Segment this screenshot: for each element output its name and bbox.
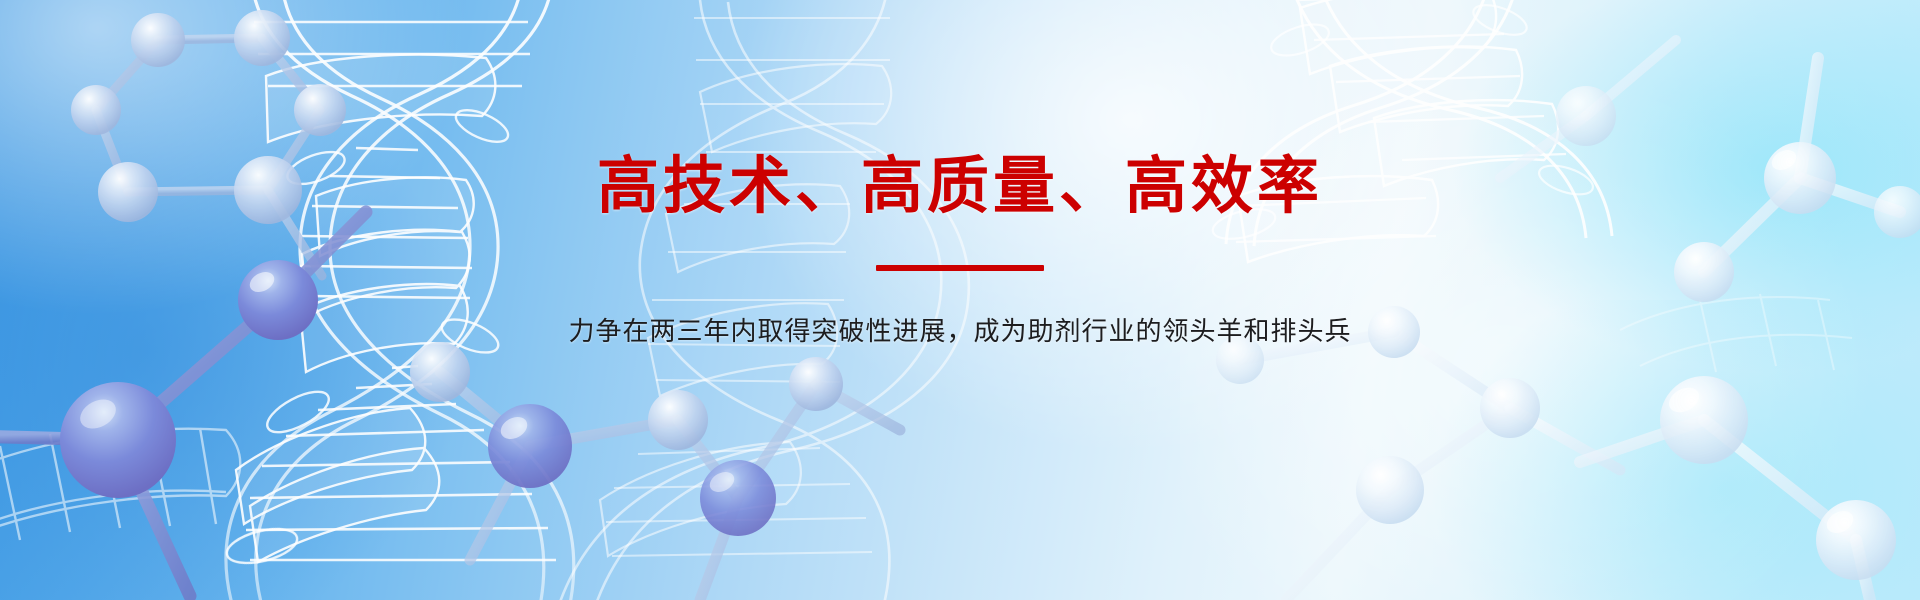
banner-content: 高技术、高质量、高效率 力争在两三年内取得突破性进展，成为助剂行业的领头羊和排头… (0, 150, 1920, 348)
banner-headline: 高技术、高质量、高效率 (0, 150, 1920, 221)
banner-subtitle: 力争在两三年内取得突破性进展，成为助剂行业的领头羊和排头兵 (0, 311, 1920, 348)
headline-divider (876, 265, 1044, 271)
hero-banner: 高技术、高质量、高效率 力争在两三年内取得突破性进展，成为助剂行业的领头羊和排头… (0, 0, 1920, 600)
